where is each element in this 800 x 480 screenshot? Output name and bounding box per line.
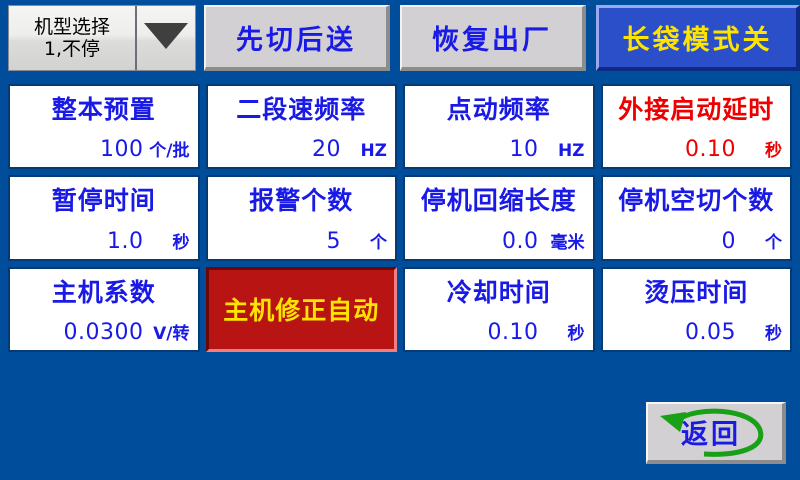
param-title: 点动频率	[405, 90, 593, 126]
param-value-row[interactable]: 0.10 秒	[609, 136, 783, 162]
param-title: 停机空切个数	[603, 181, 791, 217]
param-title: 停机回缩长度	[405, 181, 593, 217]
param-title: 烫压时间	[603, 273, 791, 309]
param-cell-jog-frequency[interactable]: 点动频率 10 HZ	[403, 84, 595, 169]
param-value[interactable]: 0.10	[488, 320, 539, 345]
top-toolbar: 机型选择 1,不停 先切后送 恢复出厂 长袋模式关	[0, 0, 800, 78]
long-bag-mode-label: 长袋模式关	[623, 18, 773, 57]
param-unit: HZ	[341, 141, 387, 161]
param-title: 外接启动延时	[603, 90, 791, 126]
model-select-text: 机型选择 1,不停	[9, 6, 135, 70]
chevron-down-icon[interactable]	[135, 6, 195, 70]
param-unit: 秒	[144, 228, 190, 253]
param-title: 主机系数	[10, 273, 198, 309]
param-unit: 秒	[539, 319, 585, 344]
param-value-row[interactable]: 0 个	[609, 228, 783, 254]
param-unit: V/转	[144, 319, 190, 344]
param-unit: 秒	[736, 319, 782, 344]
param-title: 暂停时间	[10, 181, 198, 217]
param-cell-heat-press-time[interactable]: 烫压时间 0.05 秒	[601, 267, 793, 352]
param-cell-alarm-count[interactable]: 报警个数 5 个	[206, 175, 398, 260]
return-button[interactable]: 返回	[646, 402, 786, 464]
param-value[interactable]: 1.0	[107, 229, 144, 254]
param-value-row[interactable]: 100 个/批	[16, 136, 190, 162]
param-unit: 个/批	[144, 136, 190, 161]
param-value[interactable]: 10	[510, 137, 539, 162]
param-title: 冷却时间	[405, 273, 593, 309]
param-cell-stop-retract-length[interactable]: 停机回缩长度 0.0 毫米	[403, 175, 595, 260]
param-title: 整本预置	[10, 90, 198, 126]
return-button-label: 返回	[648, 413, 782, 452]
param-unit: 毫米	[539, 228, 585, 253]
model-select-label: 机型选择	[34, 16, 110, 38]
param-unit: HZ	[539, 141, 585, 161]
param-value[interactable]: 0.05	[685, 320, 736, 345]
param-value[interactable]: 20	[312, 137, 341, 162]
pre-cut-then-feed-button[interactable]: 先切后送	[204, 5, 390, 71]
param-value-row[interactable]: 1.0 秒	[16, 228, 190, 254]
param-value-row[interactable]: 0.10 秒	[411, 319, 585, 345]
pre-cut-then-feed-label: 先切后送	[236, 18, 356, 57]
param-value[interactable]: 0.0300	[64, 320, 144, 345]
param-cell-cooling-time[interactable]: 冷却时间 0.10 秒	[403, 267, 595, 352]
restore-factory-button[interactable]: 恢复出厂	[400, 5, 586, 71]
long-bag-mode-button[interactable]: 长袋模式关	[596, 5, 800, 71]
param-value[interactable]: 5	[327, 229, 342, 254]
param-cell-pause-time[interactable]: 暂停时间 1.0 秒	[8, 175, 200, 260]
param-unit: 秒	[736, 136, 782, 161]
main-motor-auto-correct-button[interactable]: 主机修正自动	[206, 267, 398, 352]
param-cell-second-speed-frequency[interactable]: 二段速频率 20 HZ	[206, 84, 398, 169]
model-select-dropdown[interactable]: 机型选择 1,不停	[8, 5, 196, 71]
param-value-row[interactable]: 0.0300 V/转	[16, 319, 190, 345]
param-value-row[interactable]: 0.05 秒	[609, 319, 783, 345]
hmi-screen: 机型选择 1,不停 先切后送 恢复出厂 长袋模式关 整本预置 100 个/批	[0, 0, 800, 480]
param-value[interactable]: 0.0	[502, 229, 539, 254]
param-title: 报警个数	[208, 181, 396, 217]
param-cell-whole-book-preset[interactable]: 整本预置 100 个/批	[8, 84, 200, 169]
restore-factory-label: 恢复出厂	[432, 18, 552, 57]
param-unit: 个	[341, 228, 387, 253]
param-title: 二段速频率	[208, 90, 396, 126]
parameter-grid: 整本预置 100 个/批 二段速频率 20 HZ 点动频率 10 HZ 外接启动…	[8, 84, 792, 352]
param-value-row[interactable]: 10 HZ	[411, 137, 585, 162]
param-unit: 个	[736, 228, 782, 253]
param-value[interactable]: 0.10	[685, 137, 736, 162]
param-value[interactable]: 100	[100, 137, 144, 162]
main-motor-auto-correct-label: 主机修正自动	[223, 291, 379, 327]
param-cell-stop-idle-cut-count[interactable]: 停机空切个数 0 个	[601, 175, 793, 260]
chevron-down-glyph	[144, 23, 188, 49]
model-select-value: 1,不停	[44, 38, 100, 60]
param-cell-external-start-delay[interactable]: 外接启动延时 0.10 秒	[601, 84, 793, 169]
param-value[interactable]: 0	[722, 229, 737, 254]
param-value-row[interactable]: 5 个	[214, 228, 388, 254]
param-value-row[interactable]: 0.0 毫米	[411, 228, 585, 254]
param-value-row[interactable]: 20 HZ	[214, 137, 388, 162]
param-cell-main-motor-coefficient[interactable]: 主机系数 0.0300 V/转	[8, 267, 200, 352]
